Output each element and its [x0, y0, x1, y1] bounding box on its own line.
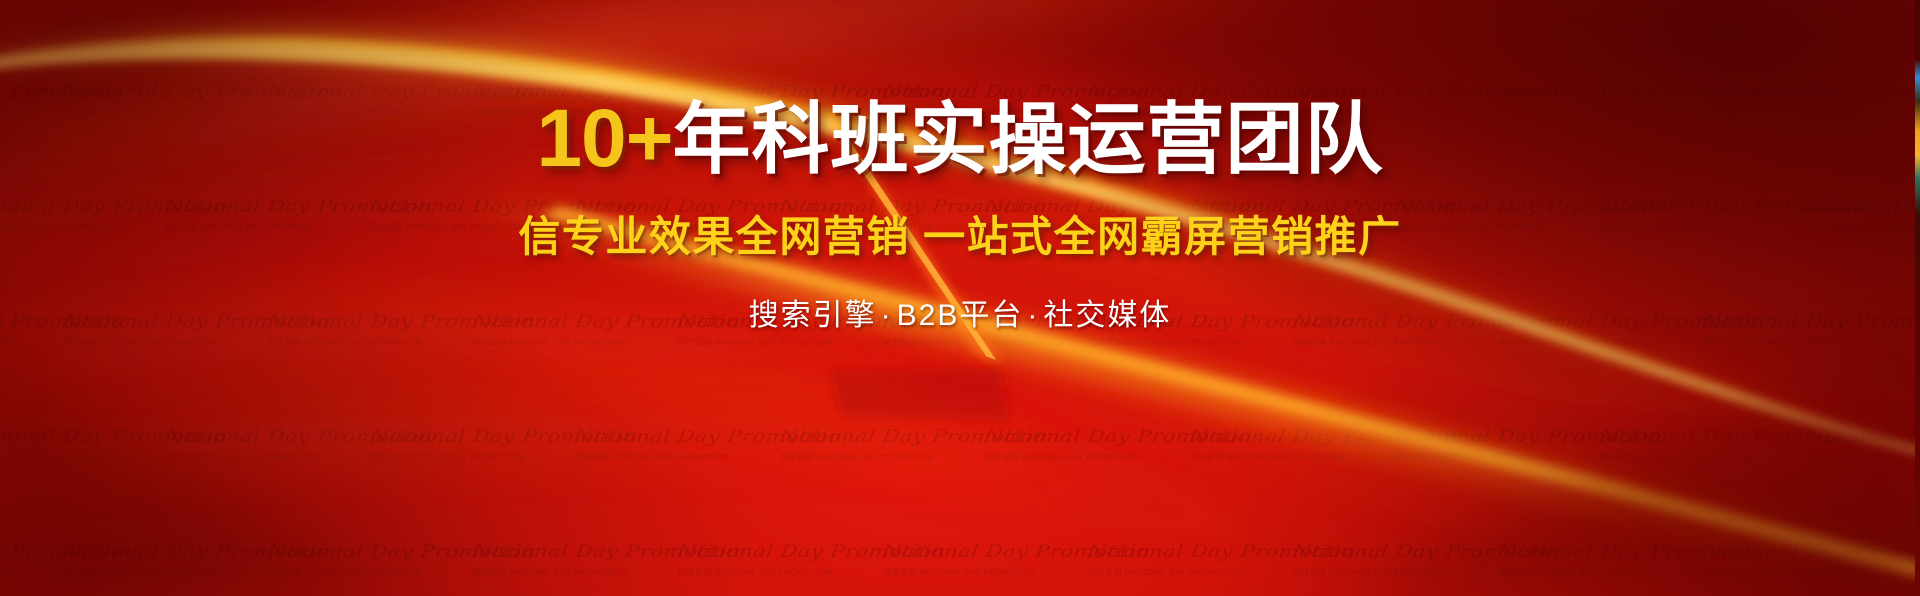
banner-content: 10+年科班实操运营团队 信专业效果全网营销 一站式全网霸屏营销推广 搜索引擎·… [0, 0, 1920, 334]
tagline-item-b2b-platform: B2B平台 [897, 299, 1024, 332]
tagline-separator-dot-icon: · [1023, 299, 1043, 332]
promotional-banner: National Day Promotion 国庆促销 NATIONAL DAY… [0, 0, 1920, 596]
headline: 10+年科班实操运营团队 [0, 0, 1920, 181]
tagline-item-search-engine: 搜索引擎 [749, 299, 877, 332]
headline-highlight: 10+ [536, 93, 672, 184]
tagline-separator-dot-icon: · [877, 299, 897, 332]
subheadline: 信专业效果全网营销 一站式全网霸屏营销推广 [0, 181, 1920, 264]
headline-rest: 年科班实操运营团队 [673, 95, 1384, 183]
tagline-item-social-media: 社交媒体 [1043, 299, 1171, 332]
page-edge-sliver [1915, 0, 1920, 596]
tagline: 搜索引擎·B2B平台·社交媒体 [0, 264, 1920, 334]
